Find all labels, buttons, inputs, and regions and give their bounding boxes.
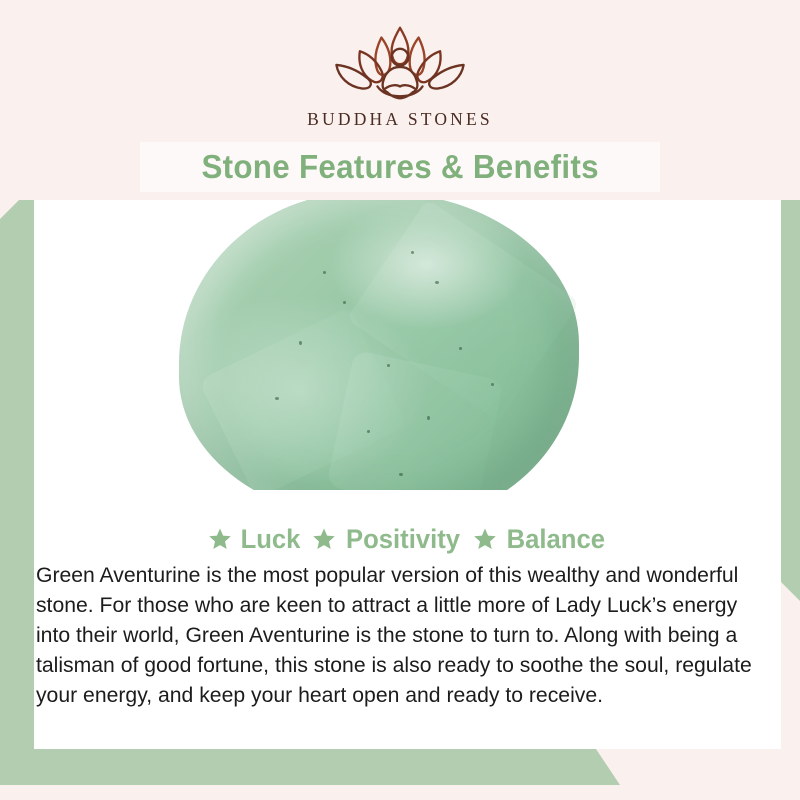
keyword-label: Positivity [346,524,460,555]
title-banner: Stone Features & Benefits [140,142,660,192]
page-title: Stone Features & Benefits [201,148,598,186]
keyword-label: Luck [240,524,300,555]
frame-band-bottom [0,749,620,785]
stone-photo: Green Aventurine [34,200,781,490]
stone-image [179,200,579,490]
star-icon [208,527,232,551]
keyword-item-positivity: Positivity [312,524,463,555]
keyword-item-luck: Luck [208,524,302,555]
lotus-meditation-icon [315,18,485,108]
brand-logo: BUDDHA STONES [0,18,800,130]
keyword-row: Luck Positivity Balance [34,518,781,560]
keyword-item-balance: Balance [473,524,608,555]
stone-description: Green Aventurine is the most popular ver… [34,560,770,710]
star-icon [473,527,497,551]
brand-name: BUDDHA STONES [307,109,493,130]
star-icon [312,527,336,551]
frame-band-left [0,200,34,768]
keyword-label: Balance [506,524,604,555]
